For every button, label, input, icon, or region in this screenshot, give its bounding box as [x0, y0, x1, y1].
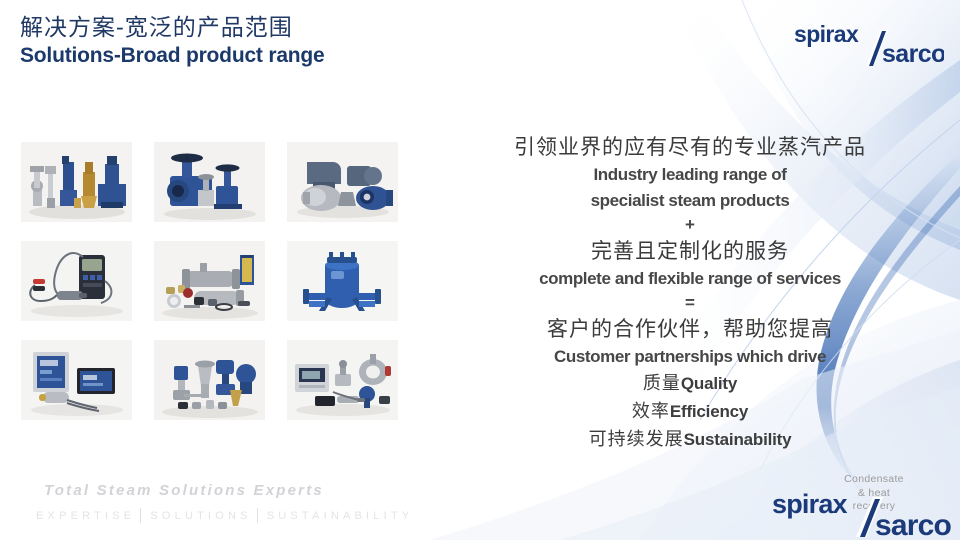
- product-row: [21, 340, 398, 439]
- svg-text:spirax: spirax: [772, 489, 848, 519]
- spirax-sarco-logo-bottom: spirax sarco: [772, 487, 952, 537]
- heat-exchangers-fittings-photo: [154, 241, 265, 321]
- message-value-sustainability: 可持续发展Sustainability: [470, 426, 910, 454]
- message-value-efficiency: 效率Efficiency: [470, 398, 910, 426]
- page-title-english: Solutions-Broad product range: [20, 43, 325, 69]
- product-image-handheld-test-meter: [21, 241, 132, 321]
- svg-text:sarco: sarco: [875, 509, 952, 537]
- message-line-6-cn: 客户的合作伙伴，帮助您提高: [470, 314, 910, 344]
- product-image-condensate-recovery-unit: [287, 241, 398, 321]
- message-line-3-en: specialist steam products: [470, 188, 910, 214]
- brand-logo-icon: spirax sarco: [772, 487, 952, 537]
- product-image-control-valves-blue: [154, 142, 265, 222]
- message-line-4-cn: 完善且定制化的服务: [470, 236, 910, 266]
- footer-pillar-sustainability: SUSTAINABILITY: [267, 510, 414, 522]
- control-panels-sensors-photo: [21, 340, 132, 420]
- product-image-grid: [21, 142, 398, 439]
- product-image-steam-traps: [287, 142, 398, 222]
- message-line-2-en: Industry leading range of: [470, 162, 910, 188]
- flow-metering-equipment-photo: [287, 340, 398, 420]
- product-image-safety-relief-valves: [21, 142, 132, 222]
- slide-canvas: 解决方案-宽泛的产品范围 Solutions-Broad product ran…: [0, 0, 960, 540]
- handheld-test-meter-photo: [21, 241, 132, 321]
- brand-logo-icon: spirax sarco: [794, 20, 944, 68]
- message-operator-plus: +: [470, 214, 910, 236]
- message-value-efficiency-cn: 效率: [632, 401, 670, 422]
- safety-relief-valves-photo: [21, 142, 132, 222]
- svg-text:spirax: spirax: [794, 21, 859, 47]
- footer-divider: [257, 508, 258, 523]
- product-image-control-panels-sensors: [21, 340, 132, 420]
- product-row: [21, 241, 398, 340]
- message-block: 引领业界的应有尽有的专业蒸汽产品 Industry leading range …: [470, 132, 910, 454]
- svg-text:sarco: sarco: [882, 40, 944, 68]
- message-value-quality-cn: 质量: [643, 373, 681, 394]
- steam-traps-photo: [287, 142, 398, 222]
- message-operator-equals: =: [470, 292, 910, 314]
- page-title-chinese: 解决方案-宽泛的产品范围: [20, 14, 325, 42]
- control-valves-blue-photo: [154, 142, 265, 222]
- product-image-flow-metering-equipment: [287, 340, 398, 420]
- product-row: [21, 142, 398, 241]
- message-value-sustainability-en: Sustainability: [684, 430, 792, 449]
- actuated-control-valves-photo: [154, 340, 265, 420]
- message-value-quality-en: Quality: [681, 374, 737, 393]
- footer-pillars: EXPERTISE SOLUTIONS SUSTAINABILITY: [36, 508, 413, 523]
- footer-pillar-solutions: SOLUTIONS: [150, 510, 251, 522]
- footer-tagline: Total Steam Solutions Experts: [44, 482, 324, 499]
- message-line-5-en: complete and flexible range of services: [470, 266, 910, 292]
- product-image-heat-exchangers-fittings: [154, 241, 265, 321]
- spirax-sarco-logo-top: spirax sarco: [794, 20, 944, 68]
- caption-line-1: Condensate: [826, 473, 922, 487]
- footer-divider: [140, 508, 141, 523]
- message-line-7-en: Customer partnerships which drive: [470, 344, 910, 370]
- footer-pillar-expertise: EXPERTISE: [36, 510, 135, 522]
- message-value-quality: 质量Quality: [470, 370, 910, 398]
- page-title: 解决方案-宽泛的产品范围 Solutions-Broad product ran…: [20, 14, 325, 69]
- product-image-actuated-control-valves: [154, 340, 265, 420]
- condensate-recovery-unit-photo: [287, 241, 398, 321]
- message-line-1-cn: 引领业界的应有尽有的专业蒸汽产品: [470, 132, 910, 162]
- message-value-sustainability-cn: 可持续发展: [589, 429, 684, 450]
- message-value-efficiency-en: Efficiency: [670, 402, 748, 421]
